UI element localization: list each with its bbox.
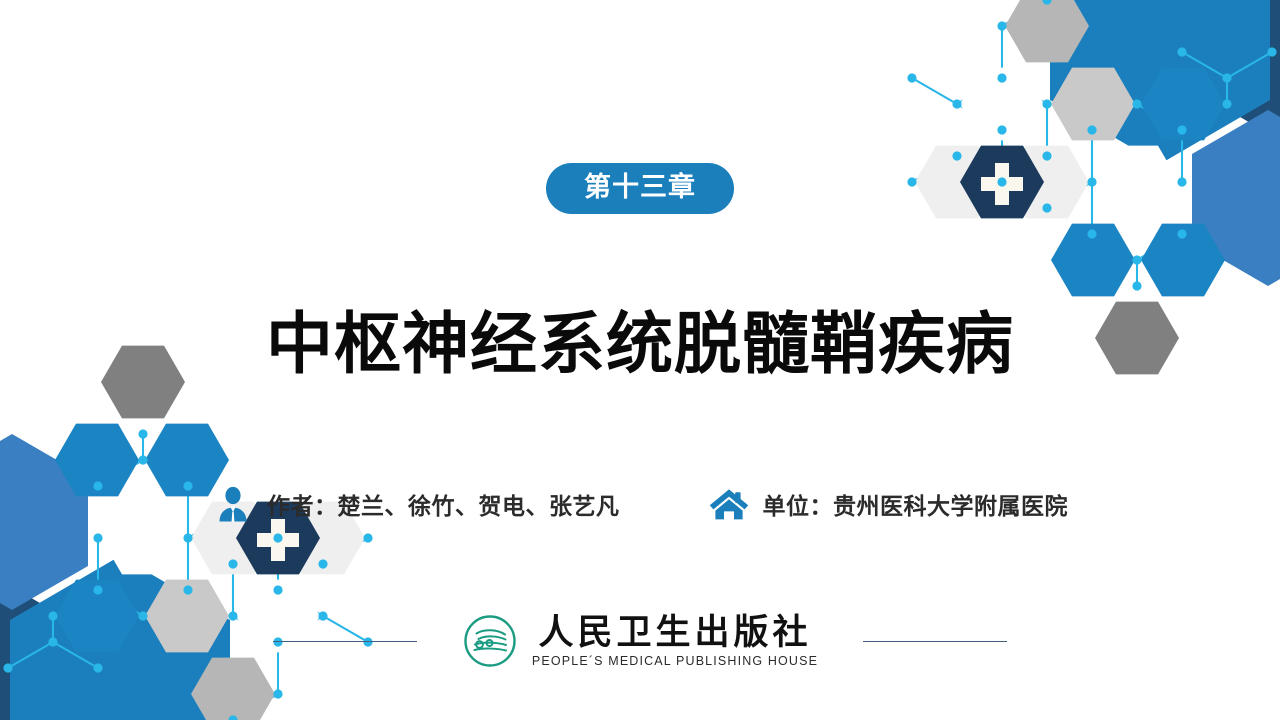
publisher-name-cn: 人民卫生出版社 <box>538 614 811 652</box>
unit-text: 单位：贵州医科大学附属医院 <box>763 487 1069 521</box>
corner-shapes-top-right <box>1050 0 1280 286</box>
publisher-words: 人民卫生出版社 PEOPLE´S MEDICAL PUBLISHING HOUS… <box>532 614 818 669</box>
author-item: 作者：楚兰、徐竹、贺电、张艺凡 <box>212 483 620 525</box>
divider-left <box>273 641 417 642</box>
publisher-logo: 人民卫生出版社 PEOPLE´S MEDICAL PUBLISHING HOUS… <box>462 613 818 669</box>
home-icon <box>708 483 750 525</box>
page-title: 中枢神经系统脱髓鞘疾病 <box>0 307 1280 382</box>
molecule-links-top-right <box>912 0 1272 286</box>
hex-medical-cross-top-right <box>960 146 1044 219</box>
chapter-badge: 第十三章 <box>546 163 734 214</box>
pmph-cloud-circle-icon <box>462 613 518 669</box>
publisher-name-en: PEOPLE´S MEDICAL PUBLISHING HOUSE <box>532 654 818 668</box>
author-text: 作者：楚兰、徐竹、贺电、张艺凡 <box>267 487 620 521</box>
corner-hex-navy <box>1190 0 1280 132</box>
footer: 人民卫生出版社 PEOPLE´S MEDICAL PUBLISHING HOUS… <box>0 600 1280 682</box>
corner-hex-lightblue <box>1192 110 1280 286</box>
slide-root: 第十三章 中枢神经系统脱髓鞘疾病 作者：楚兰、徐竹、贺电、张艺凡 <box>0 0 1280 720</box>
meta-row: 作者：楚兰、徐竹、贺电、张艺凡 单位：贵州医科大学附属医院 <box>0 478 1280 530</box>
person-icon <box>212 483 254 525</box>
unit-item: 单位：贵州医科大学附属医院 <box>708 483 1069 525</box>
divider-right <box>863 641 1007 642</box>
corner-hex-blue-large <box>1050 0 1270 164</box>
molecule-nodes-top-right <box>907 0 1276 291</box>
